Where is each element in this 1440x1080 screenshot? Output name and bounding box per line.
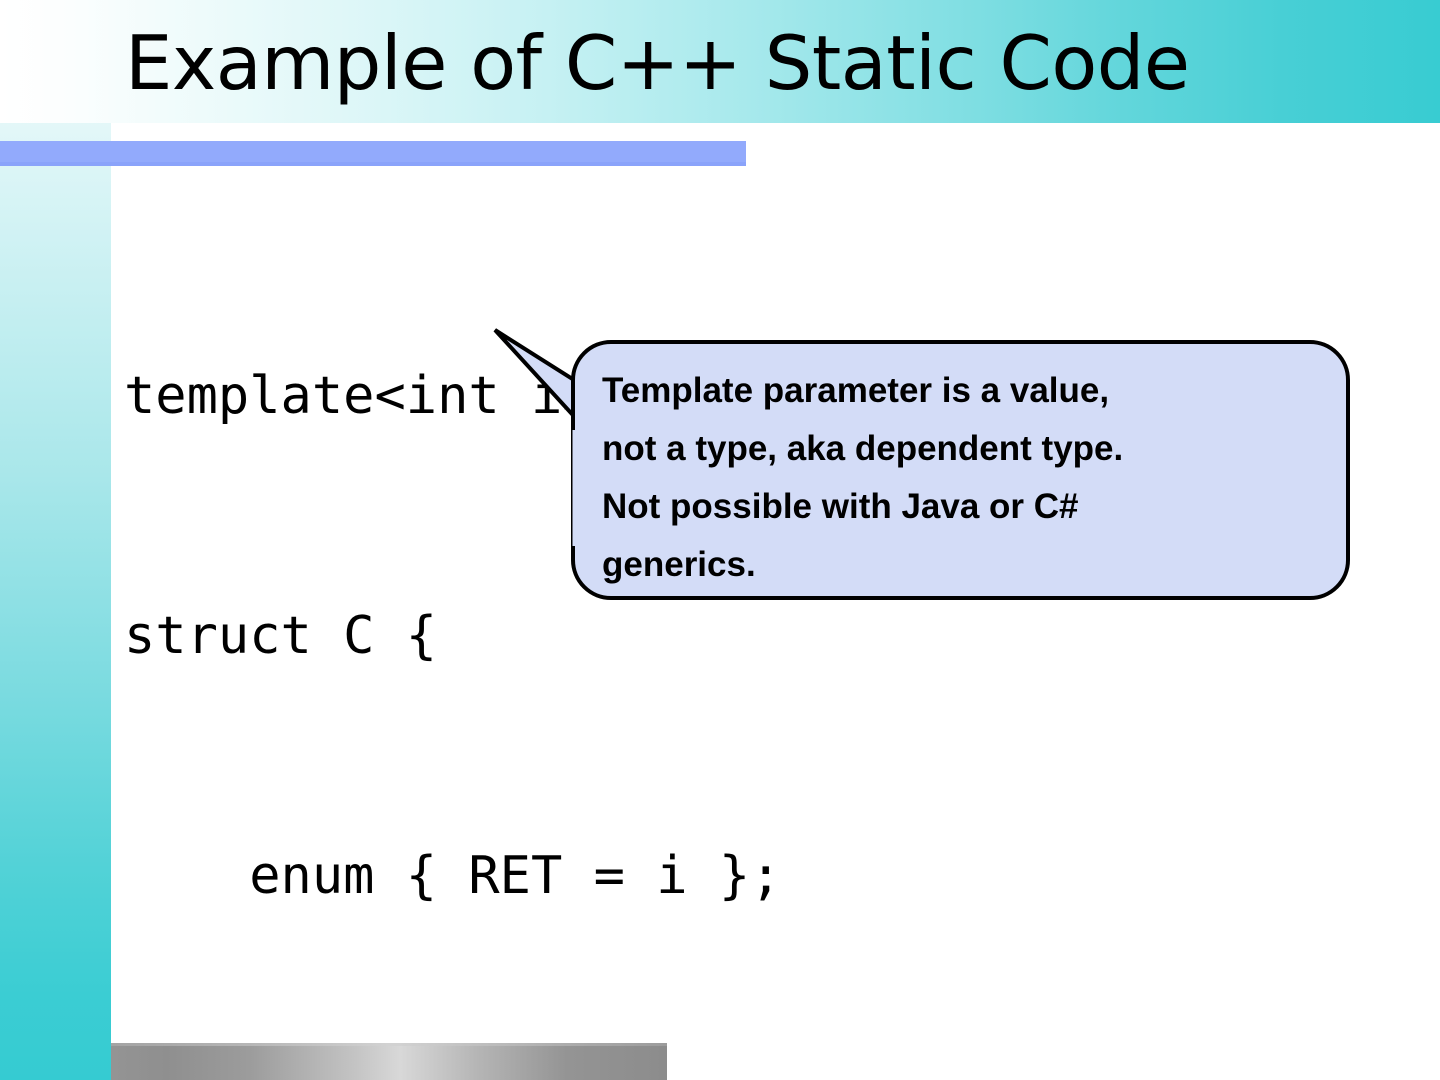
title-underline-rule-shadow [0, 162, 746, 166]
callout-bubble: Template parameter is a value, not a typ… [490, 322, 1360, 612]
callout-text-line: Template parameter is a value, [602, 362, 1337, 420]
footer-bar [111, 1043, 667, 1080]
callout-text-line: not a type, aka dependent type. [602, 420, 1337, 478]
footer-bar-highlight [111, 1043, 667, 1046]
page-title: Example of C++ Static Code [125, 11, 1425, 115]
callout-text-line: generics. [602, 536, 1337, 594]
code-line: enum { RET = i }; [124, 836, 1354, 916]
callout-text: Template parameter is a value, not a typ… [602, 362, 1337, 594]
slide-canvas: Example of C++ Static Code template<int … [0, 0, 1440, 1080]
callout-text-line: Not possible with Java or C# [602, 478, 1337, 536]
